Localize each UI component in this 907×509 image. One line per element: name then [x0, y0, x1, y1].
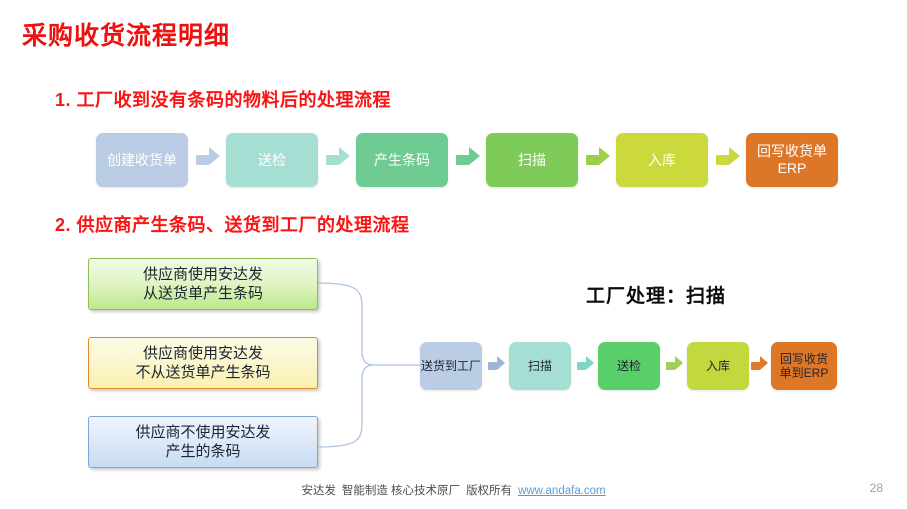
flow-step-3[interactable]: 产生条码 — [356, 133, 448, 187]
flow-step-label: 入库 — [616, 152, 708, 169]
flow-step-3[interactable]: 送检 — [598, 342, 660, 390]
flow-step-2[interactable]: 扫描 — [509, 342, 571, 390]
option-box-supplier-not-using-andafa[interactable]: 供应商不使用安达发产生的条码 — [88, 416, 318, 468]
flow-step-label: 产生条码 — [356, 152, 448, 169]
brace-connector-icon — [316, 255, 426, 475]
option-box-supplier-not-from-delivery-note[interactable]: 供应商使用安达发不从送货单产生条码 — [88, 337, 318, 389]
page-number: 28 — [870, 481, 883, 495]
page-title: 采购收货流程明细 — [22, 16, 230, 52]
option-box-label: 供应商不使用安达发产生的条码 — [135, 423, 270, 461]
flow-step-label: 送检 — [598, 359, 660, 373]
slide-canvas: 采购收货流程明细 1. 工厂收到没有条码的物料后的处理流程 创建收货单送检产生条… — [0, 0, 907, 509]
flow-step-5[interactable]: 入库 — [616, 133, 708, 187]
flow-step-2[interactable]: 送检 — [226, 133, 318, 187]
flow-step-label: 扫描 — [509, 359, 571, 373]
option-box-label: 供应商使用安达发从送货单产生条码 — [143, 265, 263, 303]
flow-step-4[interactable]: 扫描 — [486, 133, 578, 187]
flow-step-label: 创建收货单 — [96, 152, 188, 169]
section-heading-1: 1. 工厂收到没有条码的物料后的处理流程 — [55, 86, 391, 112]
option-box-label: 供应商使用安达发不从送货单产生条码 — [135, 344, 270, 382]
section-heading-2: 2. 供应商产生条码、送货到工厂的处理流程 — [55, 211, 410, 237]
flow-step-4[interactable]: 入库 — [687, 342, 749, 390]
flow-step-label: 回写收货单ERP — [746, 143, 838, 176]
factory-handling-label: 工厂处理：扫描 — [586, 281, 726, 308]
footer-website-link[interactable]: www.andafa.com — [518, 485, 606, 497]
flow-step-label: 扫描 — [486, 152, 578, 169]
flow-step-1[interactable]: 送货到工厂 — [420, 342, 482, 390]
option-box-supplier-from-delivery-note[interactable]: 供应商使用安达发从送货单产生条码 — [88, 258, 318, 310]
flow-step-1[interactable]: 创建收货单 — [96, 133, 188, 187]
flow-step-label: 送检 — [226, 152, 318, 169]
flow-step-5[interactable]: 回写收货单到ERP — [771, 342, 837, 390]
footer-copyright: 版权所有 — [466, 485, 512, 497]
footer-brand: 安达发 — [301, 485, 336, 497]
flow-step-6[interactable]: 回写收货单ERP — [746, 133, 838, 187]
flow-step-label: 入库 — [687, 359, 749, 373]
flow-step-label: 回写收货单到ERP — [771, 352, 837, 380]
flow-step-label: 送货到工厂 — [420, 359, 482, 373]
footer-tagline: 智能制造 核心技术原厂 — [342, 485, 460, 497]
footer: 安达发智能制造 核心技术原厂版权所有www.andafa.com — [0, 482, 907, 498]
